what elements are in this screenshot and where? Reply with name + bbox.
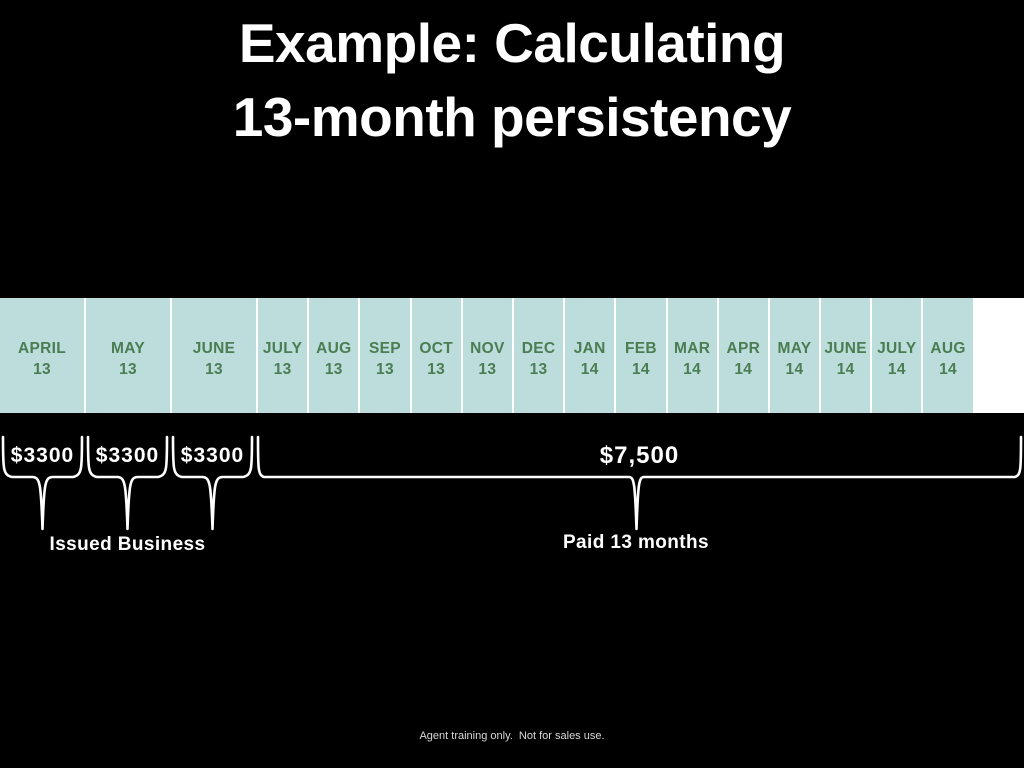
month-name: OCT	[419, 338, 453, 359]
month-name: APRIL	[18, 338, 66, 359]
amount-paid-total: $7,500	[255, 442, 1024, 470]
month-name: AUG	[316, 338, 351, 359]
month-cell: FEB14	[616, 298, 665, 413]
month-year: 14	[888, 359, 906, 380]
month-year: 14	[734, 359, 752, 380]
month-cell: JULY14	[872, 298, 921, 413]
month-year: 13	[376, 359, 394, 380]
month-name: FEB	[625, 338, 657, 359]
month-year: 14	[786, 359, 804, 380]
month-cell: JULY13	[258, 298, 307, 413]
month-name: NOV	[470, 338, 505, 359]
month-cell: AUG14	[923, 298, 972, 413]
month-year: 13	[274, 359, 292, 380]
month-year: 13	[33, 359, 51, 380]
month-cell: DEC13	[514, 298, 563, 413]
month-name: JUNE	[824, 338, 867, 359]
month-cell: NOV13	[463, 298, 512, 413]
month-year: 13	[119, 359, 137, 380]
month-year: 13	[530, 359, 548, 380]
month-name: APR	[726, 338, 760, 359]
month-year: 14	[632, 359, 650, 380]
brace-issued-3	[170, 425, 255, 535]
month-cell: JAN14	[565, 298, 614, 413]
month-year: 14	[939, 359, 957, 380]
month-cell: MAY14	[770, 298, 819, 413]
month-cell: OCT13	[412, 298, 461, 413]
month-timeline: APRIL13MAY13JUNE13JULY13AUG13SEP13OCT13N…	[0, 298, 1024, 413]
month-cell: APR14	[719, 298, 768, 413]
month-year: 14	[837, 359, 855, 380]
month-year: 13	[325, 359, 343, 380]
month-year: 13	[205, 359, 223, 380]
month-name: JUNE	[193, 338, 236, 359]
month-name: JULY	[263, 338, 302, 359]
month-year: 13	[427, 359, 445, 380]
footer-disclaimer: Agent training only. Not for sales use.	[0, 730, 1024, 742]
month-cell: SEP13	[360, 298, 409, 413]
amount-issued-3: $3300	[170, 443, 255, 469]
month-cell: AUG13	[309, 298, 358, 413]
caption-paid-13-months: Paid 13 months	[440, 532, 832, 554]
month-year: 14	[683, 359, 701, 380]
brace-issued-1	[0, 425, 85, 535]
month-name: DEC	[522, 338, 556, 359]
month-cell: JUNE14	[821, 298, 870, 413]
month-name: JULY	[877, 338, 916, 359]
caption-issued-business: Issued Business	[0, 534, 255, 556]
month-name: MAY	[111, 338, 145, 359]
month-name: JAN	[574, 338, 606, 359]
month-cell: APRIL13	[0, 298, 84, 413]
month-name: MAR	[674, 338, 710, 359]
amount-issued-1: $3300	[0, 443, 85, 469]
page-title: Example: Calculating 13-month persistenc…	[0, 6, 1024, 154]
month-year: 14	[581, 359, 599, 380]
month-cell: JUNE13	[172, 298, 256, 413]
month-name: MAY	[778, 338, 812, 359]
month-name: AUG	[930, 338, 965, 359]
month-name: SEP	[369, 338, 401, 359]
amount-issued-2: $3300	[85, 443, 170, 469]
month-cell: MAR14	[668, 298, 717, 413]
brace-issued-2	[85, 425, 170, 535]
month-cell: MAY13	[86, 298, 170, 413]
month-year: 13	[478, 359, 496, 380]
